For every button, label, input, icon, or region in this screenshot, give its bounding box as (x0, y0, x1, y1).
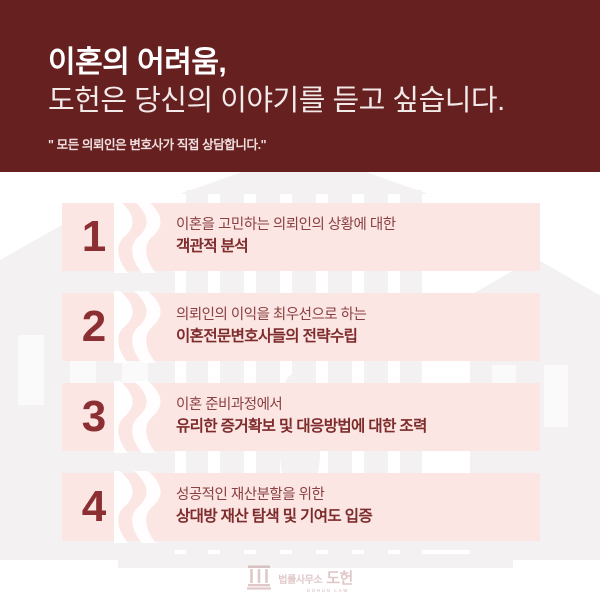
list-item-line-bottom: 객관적 분석 (176, 236, 532, 258)
list-item: 4 성공적인 재산분할을 위한 상대방 재산 탐색 및 기여도 입증 (62, 473, 540, 541)
footer-romanized-name: DOHUN LAW (307, 588, 349, 593)
header-quote: " 모든 의뢰인은 변호사가 직접 상담합니다." (48, 134, 266, 153)
list-item-text: 성공적인 재산분할을 위한 상대방 재산 탐색 및 기여도 입증 (176, 473, 532, 541)
footer-logo: 법률사무소 도헌 DOHUN LAW (0, 560, 600, 594)
infographic-page: 이혼의 어려움, 도헌은 당신의 이야기를 듣고 싶습니다. " 모든 의뢰인은… (0, 0, 600, 600)
list-item-text: 의뢰인의 이익을 최우선으로 하는 이혼전문변호사들의 전략수립 (176, 293, 532, 361)
list-item-number: 2 (68, 293, 120, 361)
list-item: 1 이혼을 고민하는 의뢰인의 상황에 대한 객관적 분석 (62, 203, 540, 271)
list-item-line-top: 의뢰인의 이익을 최우선으로 하는 (176, 305, 532, 326)
pillar-emblem-icon (247, 564, 271, 590)
list-item-line-top: 이혼 준비과정에서 (176, 395, 532, 416)
double-chevron-divider-icon (114, 471, 172, 543)
list-item-line-bottom: 유리한 증거확보 및 대응방법에 대한 조력 (176, 416, 532, 438)
list-item-number: 1 (68, 203, 120, 271)
list-item-number: 3 (68, 383, 120, 451)
double-chevron-divider-icon (114, 201, 172, 273)
list-item-line-bottom: 이혼전문변호사들의 전략수립 (176, 326, 532, 348)
footer-brand-name: 도헌 (326, 567, 352, 588)
list-item-text: 이혼을 고민하는 의뢰인의 상황에 대한 객관적 분석 (176, 203, 532, 271)
service-list: 1 이혼을 고민하는 의뢰인의 상황에 대한 객관적 분석 2 의뢰인의 이익을… (0, 172, 600, 600)
list-item-number: 4 (68, 473, 120, 541)
list-item-line-bottom: 상대방 재산 탐색 및 기여도 입증 (176, 506, 532, 528)
list-item: 3 이혼 준비과정에서 유리한 증거확보 및 대응방법에 대한 조력 (62, 383, 540, 451)
page-title-line1: 이혼의 어려움, (48, 46, 226, 80)
footer-logo-text: 법률사무소 도헌 (278, 567, 352, 588)
list-item-line-top: 성공적인 재산분할을 위한 (176, 485, 532, 506)
list-item: 2 의뢰인의 이익을 최우선으로 하는 이혼전문변호사들의 전략수립 (62, 293, 540, 361)
footer-office-label: 법률사무소 (278, 571, 322, 586)
page-title-line2: 도헌은 당신의 이야기를 듣고 싶습니다. (48, 85, 505, 117)
list-item-text: 이혼 준비과정에서 유리한 증거확보 및 대응방법에 대한 조력 (176, 383, 532, 451)
header-banner: 이혼의 어려움, 도헌은 당신의 이야기를 듣고 싶습니다. " 모든 의뢰인은… (0, 0, 600, 172)
double-chevron-divider-icon (114, 291, 172, 363)
list-item-line-top: 이혼을 고민하는 의뢰인의 상황에 대한 (176, 215, 532, 236)
double-chevron-divider-icon (114, 381, 172, 453)
